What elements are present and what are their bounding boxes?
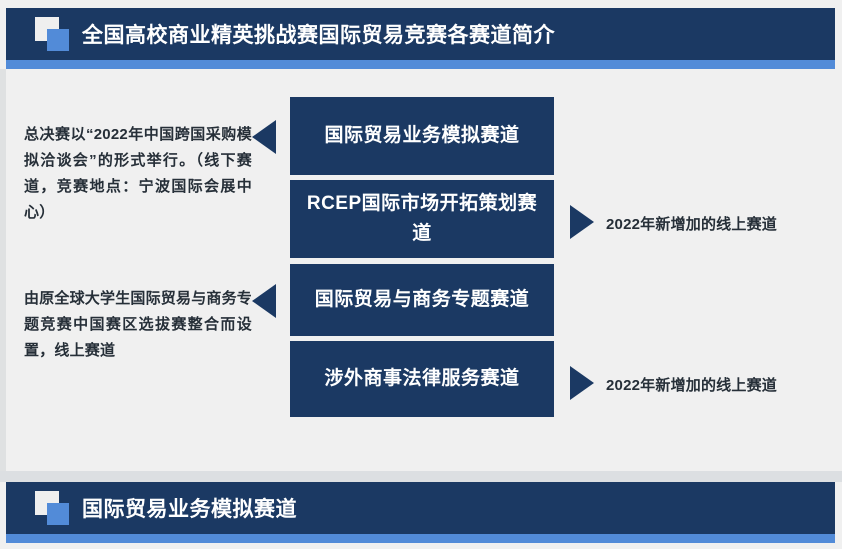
track-box-foreign-legal-service[interactable]: 涉外商事法律服务赛道 xyxy=(290,341,554,417)
left-note-merged-track: 由原全球大学生国际贸易与商务专题竞赛中国赛区选拔赛整合而设置，线上赛道 xyxy=(24,286,252,364)
slide-header-banner: 全国高校商业精英挑战赛国际贸易竞赛各赛道简介 xyxy=(6,8,835,60)
right-note-new-online-track-2: 2022年新增加的线上赛道 xyxy=(606,374,777,395)
slide-canvas: 全国高校商业精英挑战赛国际贸易竞赛各赛道简介 总决赛以“2022年中国跨国采购模… xyxy=(0,0,842,549)
triangle-left-icon xyxy=(252,284,276,318)
header-square-icon xyxy=(35,17,69,51)
page-title: 全国高校商业精英挑战赛国际贸易竞赛各赛道简介 xyxy=(82,19,555,49)
section-title: 国际贸易业务模拟赛道 xyxy=(82,493,297,523)
track-box-international-trade-simulation[interactable]: 国际贸易业务模拟赛道 xyxy=(290,97,554,175)
footer-accent-underline xyxy=(6,534,835,543)
slide-footer-banner: 国际贸易业务模拟赛道 xyxy=(6,482,835,534)
square-blue-icon xyxy=(47,29,69,51)
left-note-final-round: 总决赛以“2022年中国跨国采购模拟洽谈会”的形式举行。（线下赛道，竞赛地点：宁… xyxy=(24,122,252,226)
triangle-right-icon xyxy=(570,366,594,400)
track-box-trade-and-business-topic[interactable]: 国际贸易与商务专题赛道 xyxy=(290,264,554,336)
track-box-rcep-market-planning[interactable]: RCEP国际市场开拓策划赛道 xyxy=(290,180,554,258)
left-rail-decoration xyxy=(0,69,6,471)
section-divider xyxy=(0,471,842,482)
triangle-right-icon xyxy=(570,205,594,239)
square-blue-icon xyxy=(47,503,69,525)
right-note-new-online-track-1: 2022年新增加的线上赛道 xyxy=(606,213,777,234)
header-accent-underline xyxy=(6,60,835,69)
triangle-left-icon xyxy=(252,120,276,154)
footer-square-icon xyxy=(35,491,69,525)
